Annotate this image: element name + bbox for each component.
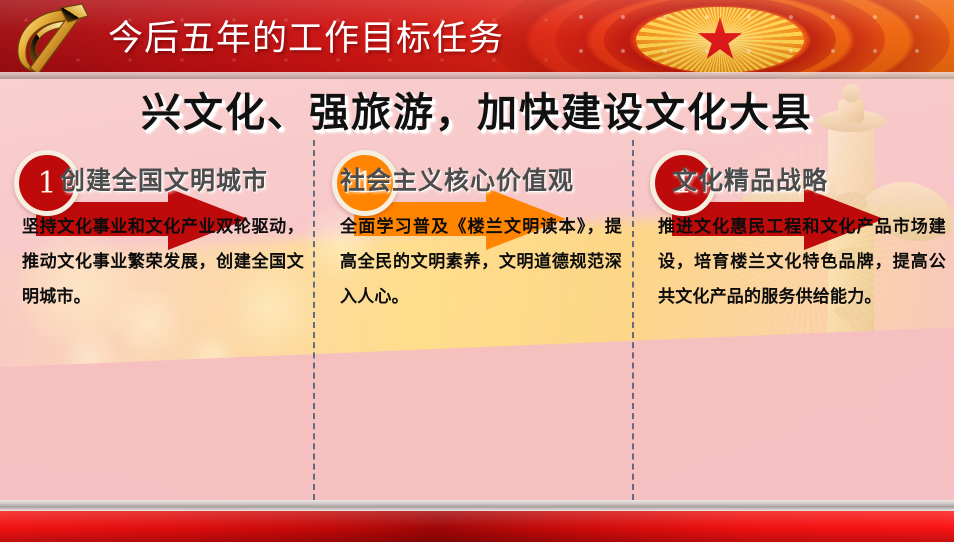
party-emblem-hammer-sickle-icon [8, 2, 92, 76]
footer-bar [0, 511, 954, 542]
column-divider-2 [632, 140, 634, 500]
column-body-3: 推进文化惠民工程和文化产品市场建设，培育楼兰文化特色品牌，提高公共文化产品的服务… [658, 210, 946, 315]
slide-canvas: 今后五年的工作目标任务 [0, 0, 954, 542]
page-title: 兴文化、强旅游，加快建设文化大县 [0, 86, 954, 140]
footer-shelf-divider [0, 500, 954, 511]
column-body-1: 坚持文化事业和文化产业双轮驱动，推动文化事业繁荣发展，创建全国文明城市。 [22, 210, 304, 315]
column-heading-3: 文化精品战略 [650, 161, 950, 197]
footer-sheen [0, 511, 954, 542]
column-heading-2: 社会主义核心价值观 [332, 161, 632, 197]
header-title: 今后五年的工作目标任务 [108, 17, 504, 61]
header-banner: 今后五年的工作目标任务 [0, 0, 954, 79]
column-body-2: 全面学习普及《楼兰文明读本》，提高全民的文明素养，文明道德规范深入人心。 [340, 210, 622, 315]
column-heading-1: 创建全国文明城市 [14, 161, 314, 197]
